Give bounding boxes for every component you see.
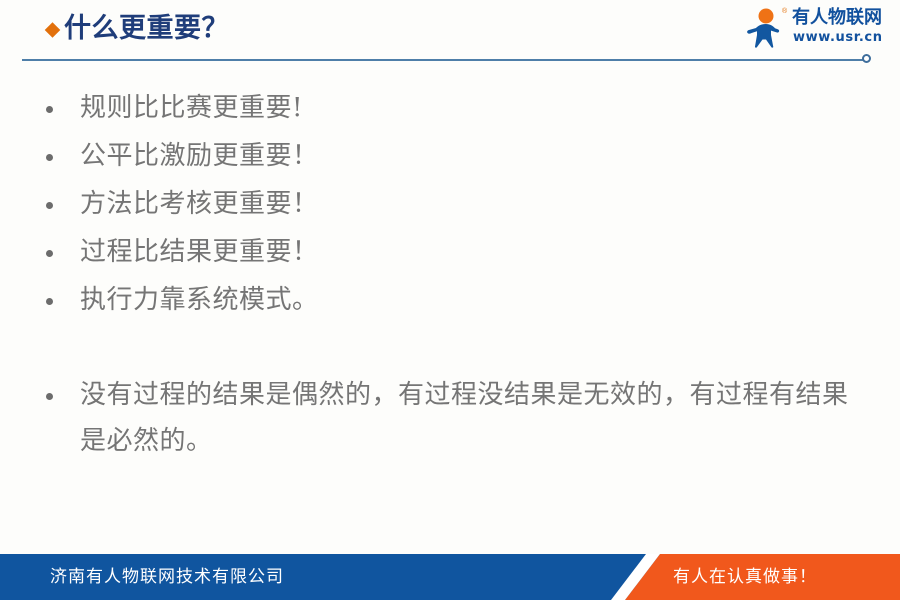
logo-brand-url: www.usr.cn bbox=[793, 30, 883, 45]
bullet-dot-icon bbox=[46, 298, 53, 305]
slide: 什么更重要？ ® 有人物联网 www.usr.cn 规则比比赛更重要! 公平比激… bbox=[0, 0, 900, 600]
bullet-list: 规则比比赛更重要! 公平比激励更重要！ 方法比考核更重要！ 过程比结果更重要！ … bbox=[36, 84, 864, 464]
page-title: 什么更重要？ bbox=[64, 10, 229, 48]
orange-diamond-icon bbox=[45, 22, 61, 38]
footer-slogan: 有人在认真做事！ bbox=[673, 554, 817, 600]
bullet-dot-icon bbox=[46, 154, 53, 161]
registered-mark: ® bbox=[782, 8, 787, 15]
header-divider bbox=[22, 59, 868, 61]
list-item: 没有过程的结果是偶然的，有过程没结果是无效的，有过程有结果是必然的。 bbox=[36, 372, 864, 464]
rule-end-circle-icon bbox=[862, 54, 871, 63]
list-item-label: 执行力靠系统模式。 bbox=[80, 276, 864, 324]
bullet-dot-icon bbox=[46, 202, 53, 209]
logo-brand-name: 有人物联网 bbox=[792, 7, 882, 28]
bullet-dot-icon bbox=[46, 250, 53, 257]
brand-logo: ® 有人物联网 www.usr.cn bbox=[746, 6, 886, 52]
list-item: 过程比结果更重要！ bbox=[36, 228, 864, 276]
bullet-dot-icon bbox=[46, 106, 53, 113]
list-item: 公平比激励更重要！ bbox=[36, 132, 864, 180]
list-item: 执行力靠系统模式。 bbox=[36, 276, 864, 324]
list-item-label: 规则比比赛更重要! bbox=[80, 84, 864, 132]
list-item-label: 公平比激励更重要！ bbox=[80, 132, 864, 180]
bullet-dot-icon bbox=[46, 393, 53, 400]
list-item-label: 过程比结果更重要！ bbox=[80, 228, 864, 276]
list-item: 方法比考核更重要！ bbox=[36, 180, 864, 228]
list-item: 规则比比赛更重要! bbox=[36, 84, 864, 132]
footer-company-name: 济南有人物联网技术有限公司 bbox=[50, 554, 284, 600]
list-item-label: 没有过程的结果是偶然的，有过程没结果是无效的，有过程有结果是必然的。 bbox=[80, 372, 864, 464]
list-item-label: 方法比考核更重要！ bbox=[80, 180, 864, 228]
slide-footer: 济南有人物联网技术有限公司 有人在认真做事！ bbox=[0, 554, 900, 600]
